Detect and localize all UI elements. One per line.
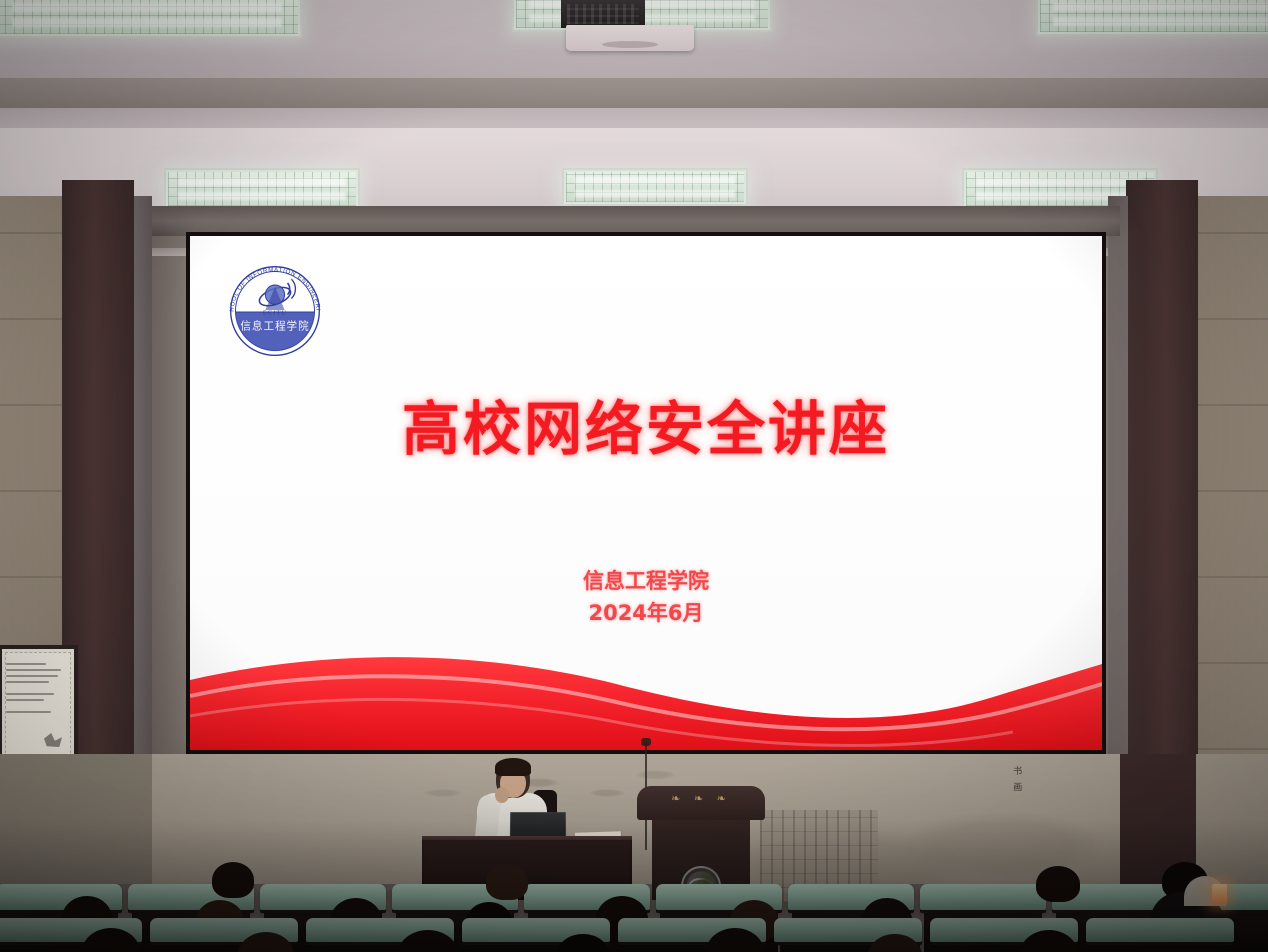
audience-head	[486, 864, 528, 900]
wall-calligraphy: 书 画	[1010, 766, 1021, 793]
seal-band-text: ECJTU	[263, 309, 287, 316]
auditorium-seat	[1086, 918, 1234, 942]
projection-screen: SCHOOL OF INFORMATION ENGINEERING ECJTU …	[186, 232, 1106, 754]
auditorium-seat	[920, 884, 1046, 910]
left-screen-surround	[134, 196, 152, 846]
fluorescent-troffer	[0, 0, 302, 38]
projector-lens	[602, 41, 658, 48]
wooden-lectern: ❧ ❧ ❧	[637, 786, 765, 820]
right-wall-acoustic-panels	[1192, 196, 1268, 836]
slide-title: 高校网络安全讲座	[190, 382, 1102, 466]
audience-head	[212, 862, 254, 898]
lit-phone-screen	[1212, 884, 1227, 904]
relief-birds-pattern	[152, 754, 1120, 884]
presentation-slide: SCHOOL OF INFORMATION ENGINEERING ECJTU …	[190, 236, 1102, 750]
slide-subtitle-line1: 信息工程学院	[190, 566, 1102, 598]
right-screen-surround	[1108, 196, 1128, 846]
lectern-characters: ❧ ❧ ❧	[637, 792, 765, 805]
stage-wall-far-right	[1196, 754, 1268, 884]
ecjtu-school-of-information-engineering-seal: SCHOOL OF INFORMATION ENGINEERING ECJTU …	[222, 258, 328, 364]
slide-subtitle-line2: 2024年6月	[190, 598, 1102, 630]
slide-subtitle: 信息工程学院 2024年6月	[190, 566, 1102, 629]
seated-presenter-hand	[495, 787, 509, 803]
fluorescent-troffer	[562, 168, 748, 206]
stage-wall-left	[0, 754, 152, 884]
slide-red-wave-decoration	[190, 640, 1102, 750]
lecture-hall-photo: SCHOOL OF INFORMATION ENGINEERING ECJTU …	[0, 0, 1268, 952]
fluorescent-troffer	[1036, 0, 1268, 36]
microphone-head	[641, 738, 651, 746]
framed-notice-plaque	[0, 645, 78, 765]
projector-mount	[561, 0, 645, 28]
ceiling-beam	[0, 78, 1268, 108]
fluorescent-troffer	[164, 168, 360, 210]
carved-relief-wall	[152, 754, 1120, 884]
seated-presenter-hair	[495, 758, 531, 776]
audience-head	[1036, 866, 1080, 902]
ceiling-projector	[566, 25, 694, 51]
seal-band-text-cn: 信息工程学院	[240, 319, 309, 332]
